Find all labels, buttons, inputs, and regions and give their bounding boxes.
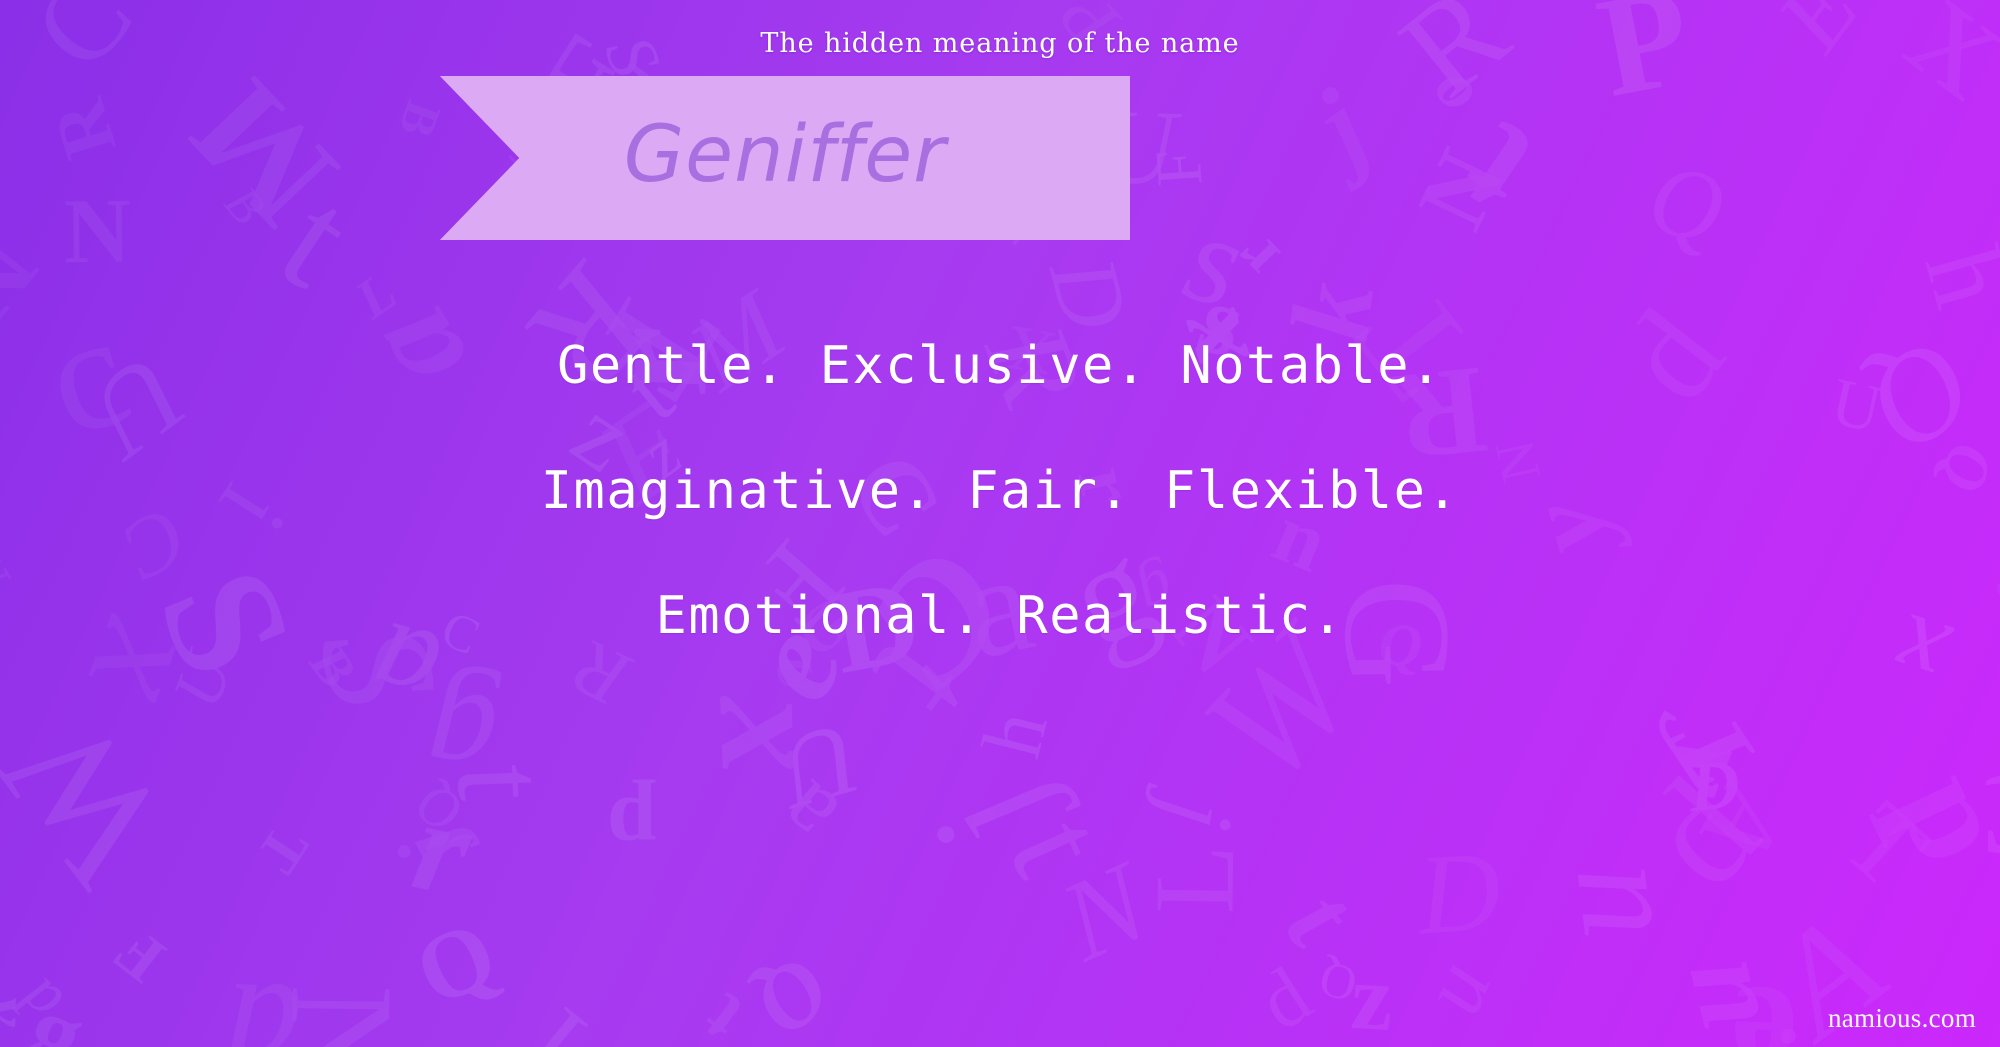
name-ribbon-banner: Geniffer [440,76,1130,240]
name-text: Geniffer [440,76,1130,240]
trait-line-3: Emotional. Realistic. [0,590,2000,642]
traits-block: Gentle. Exclusive. Notable. Imaginative.… [0,340,2000,642]
site-attribution: namious.com [1828,1003,1976,1034]
name-meaning-graphic: iLntSUtnQFRDsAECUipgtBUaGMaAEePMNdagUnFC… [0,0,2000,1047]
trait-line-2: Imaginative. Fair. Flexible. [0,465,2000,517]
trait-line-1: Gentle. Exclusive. Notable. [0,340,2000,392]
page-title: The hidden meaning of the name [0,28,2000,59]
